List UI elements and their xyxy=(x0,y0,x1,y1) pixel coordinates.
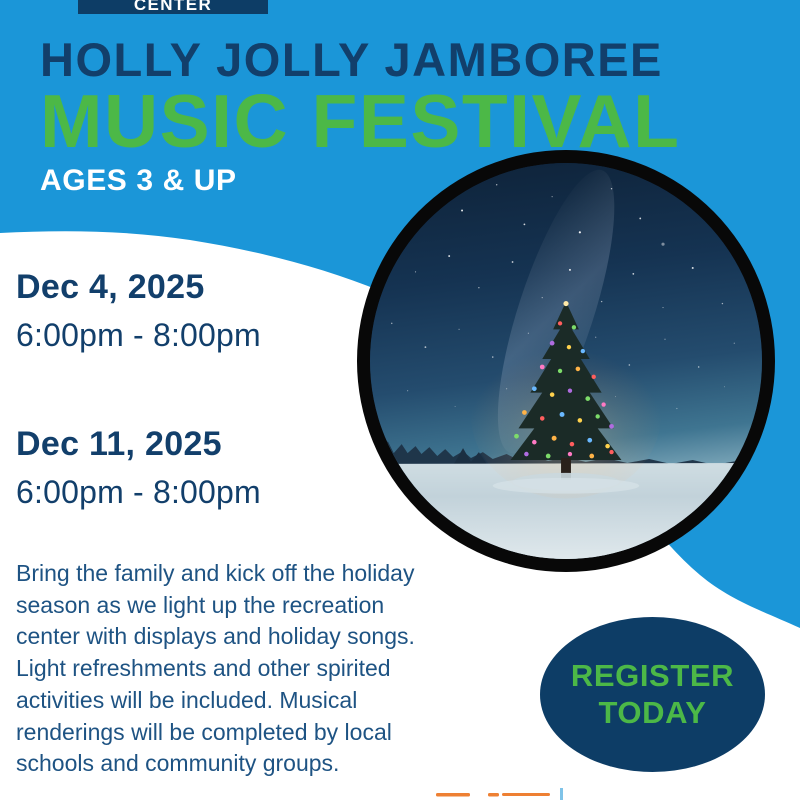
christmas-tree-photo xyxy=(357,150,775,572)
logo-orange-bar-right xyxy=(502,793,550,796)
footer-logo-cropped xyxy=(436,786,566,800)
event-time-label: 6:00pm - 8:00pm xyxy=(16,315,261,355)
event-time-label: 6:00pm - 8:00pm xyxy=(16,472,261,512)
event-date-entry: Dec 4, 2025 6:00pm - 8:00pm xyxy=(16,268,261,355)
headline-block: HOLLY JOLLY JAMBOREE MUSIC FESTIVAL xyxy=(40,36,760,159)
event-flyer: CENTER HOLLY JOLLY JAMBOREE MUSIC FESTIV… xyxy=(0,0,800,800)
event-date-entry: Dec 11, 2025 6:00pm - 8:00pm xyxy=(16,425,261,512)
register-badge-line1: REGISTER xyxy=(571,658,734,695)
organization-badge-label: CENTER xyxy=(134,0,212,13)
event-date-label: Dec 11, 2025 xyxy=(16,425,261,464)
event-title-primary: HOLLY JOLLY JAMBOREE xyxy=(40,36,760,83)
age-requirement-label: AGES 3 & UP xyxy=(40,166,237,196)
register-today-badge[interactable]: REGISTER TODAY xyxy=(540,617,765,772)
logo-orange-bar-left xyxy=(436,793,470,797)
organization-badge: CENTER xyxy=(78,0,268,14)
logo-blue-tick xyxy=(560,788,563,800)
logo-orange-bar-mid xyxy=(488,793,499,797)
event-title-secondary: MUSIC FESTIVAL xyxy=(40,84,760,159)
register-badge-line2: TODAY xyxy=(598,695,706,732)
event-date-label: Dec 4, 2025 xyxy=(16,268,261,307)
night-sky-scene xyxy=(370,163,762,559)
event-description: Bring the family and kick off the holida… xyxy=(16,558,436,780)
